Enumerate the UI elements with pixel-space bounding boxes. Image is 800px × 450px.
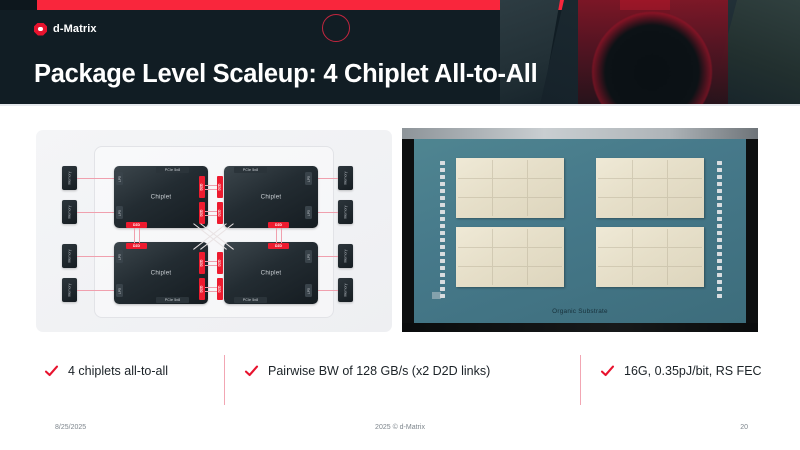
bullet-text: 16G, 0.35pJ/bit, RS FEC <box>624 364 762 379</box>
header-left-notch <box>0 0 37 10</box>
slide: d-Matrix Package Level Scaleup: 4 Chiple… <box>0 0 800 450</box>
bullet-item-1: 4 chiplets all-to-all <box>44 352 168 420</box>
d2d-wire <box>205 185 217 186</box>
memory-label: Memory <box>67 172 71 185</box>
d2d-link: D2D <box>126 243 147 249</box>
lp-label: LP5 <box>306 288 310 294</box>
pad-column-right <box>717 161 722 298</box>
page-title: Package Level Scaleup: 4 Chiplet All-to-… <box>34 60 537 89</box>
memory-link <box>77 290 115 291</box>
lp-label: LP5 <box>117 288 121 294</box>
octagon-dot-icon <box>34 23 47 36</box>
lp-interface: LP5 <box>305 284 312 297</box>
substrate-corner-mark <box>432 292 441 299</box>
brand-logo: d-Matrix <box>34 20 97 38</box>
d2d-link: D2D <box>268 243 289 249</box>
check-icon <box>44 364 59 379</box>
d2d-link: D2D <box>199 176 205 198</box>
memory-label: Memory <box>343 250 347 263</box>
d2d-wire <box>281 228 282 243</box>
pcie-interface: PCIe 5x8 <box>234 167 267 173</box>
logo-center-dot <box>38 27 43 32</box>
lp-interface: LP5 <box>116 172 123 185</box>
memory-label: Memory <box>67 206 71 219</box>
memory-link <box>318 290 338 291</box>
lp-interface: LP5 <box>305 250 312 263</box>
check-icon <box>600 364 615 379</box>
lp-label: LP5 <box>117 176 121 182</box>
footer-copyright: 2025 © d-Matrix <box>0 424 800 431</box>
memory-block: Memory <box>62 200 77 224</box>
bullet-row: 4 chiplets all-to-all Pairwise BW of 128… <box>0 352 800 408</box>
organic-substrate: Organic Substrate <box>414 139 746 323</box>
d2d-link: D2D <box>126 222 147 228</box>
slide-footer: 8/25/2025 2025 © d-Matrix 20 <box>0 424 800 444</box>
memory-link <box>318 178 338 179</box>
memory-label: Memory <box>343 284 347 297</box>
footer-page-number: 20 <box>740 424 748 431</box>
d2d-link: D2D <box>217 252 223 274</box>
d2d-wire <box>205 189 217 190</box>
memory-block: Memory <box>338 200 353 224</box>
chiplet-top-left: Chiplet <box>114 166 208 228</box>
check-icon <box>244 364 259 379</box>
memory-block: Memory <box>338 244 353 268</box>
memory-link <box>318 212 338 213</box>
d2d-link: D2D <box>217 202 223 224</box>
chiplet-bottom-left: Chiplet <box>114 242 208 304</box>
d2d-wire <box>205 287 217 288</box>
lp-label: LP5 <box>117 254 121 260</box>
bullet-text: Pairwise BW of 128 GB/s (x2 D2D links) <box>268 364 490 379</box>
lp-interface: LP5 <box>305 206 312 219</box>
pad-column-left <box>440 161 445 298</box>
d2d-link: D2D <box>199 278 205 300</box>
bullet-item-3: 16G, 0.35pJ/bit, RS FEC <box>600 352 762 420</box>
d2d-wire <box>134 228 135 243</box>
lp-interface: LP5 <box>116 206 123 219</box>
d2d-link: D2D <box>217 278 223 300</box>
d2d-wire <box>276 228 277 243</box>
lp-label: LP5 <box>306 210 310 216</box>
die-grid <box>458 160 562 216</box>
photo-bottom-bezel <box>402 323 758 332</box>
small-circle-outline-icon <box>322 14 350 42</box>
die-bottom-right <box>596 227 704 287</box>
chiplet-label: Chiplet <box>224 194 318 201</box>
lp-interface: LP5 <box>116 250 123 263</box>
lp-label: LP5 <box>306 176 310 182</box>
slide-header: d-Matrix Package Level Scaleup: 4 Chiple… <box>0 0 800 104</box>
d2d-link: D2D <box>199 202 205 224</box>
d2d-wire <box>139 228 140 243</box>
memory-label: Memory <box>343 172 347 185</box>
die-top-left <box>456 158 564 218</box>
memory-block: Memory <box>338 166 353 190</box>
chiplet-label: Chiplet <box>114 194 208 201</box>
memory-label: Memory <box>67 250 71 263</box>
d2d-link: D2D <box>199 252 205 274</box>
d2d-wire <box>205 215 217 216</box>
die-grid <box>598 229 702 285</box>
lp-interface: LP5 <box>116 284 123 297</box>
memory-link <box>77 256 115 257</box>
memory-link <box>318 256 338 257</box>
logo-text: d-Matrix <box>53 23 97 35</box>
memory-block: Memory <box>62 244 77 268</box>
lp-label: LP5 <box>306 254 310 260</box>
lp-label: LP5 <box>117 210 121 216</box>
die-grid <box>458 229 562 285</box>
d2d-link: D2D <box>217 176 223 198</box>
lp-interface: LP5 <box>305 172 312 185</box>
photo-top-bezel <box>402 128 758 139</box>
memory-link <box>77 212 115 213</box>
substrate-label: Organic Substrate <box>414 308 746 315</box>
pcie-interface: PCIe 5x8 <box>156 297 189 303</box>
memory-block: Memory <box>338 278 353 302</box>
chiplet-top-right: Chiplet <box>224 166 318 228</box>
chiplet-label: Chiplet <box>224 270 318 277</box>
memory-label: Memory <box>343 206 347 219</box>
pcie-interface: PCIe 5x8 <box>156 167 189 173</box>
memory-label: Memory <box>67 284 71 297</box>
memory-block: Memory <box>62 278 77 302</box>
die-bottom-left <box>456 227 564 287</box>
header-geometric-decoration <box>500 0 800 104</box>
bullet-text: 4 chiplets all-to-all <box>68 364 168 379</box>
d2d-wire <box>205 211 217 212</box>
die-top-right <box>596 158 704 218</box>
d2d-wire <box>205 261 217 262</box>
d2d-wire <box>205 265 217 266</box>
memory-block: Memory <box>62 166 77 190</box>
chiplet-label: Chiplet <box>114 270 208 277</box>
chiplet-bottom-right: Chiplet <box>224 242 318 304</box>
glowing-ring-graphic <box>578 0 728 104</box>
d2d-wire <box>205 291 217 292</box>
die-grid <box>598 160 702 216</box>
bullet-item-2: Pairwise BW of 128 GB/s (x2 D2D links) <box>244 352 490 420</box>
memory-link <box>77 178 115 179</box>
pcie-interface: PCIe 5x8 <box>234 297 267 303</box>
header-underline <box>0 104 800 106</box>
package-photo: Organic Substrate <box>402 128 758 332</box>
d2d-link: D2D <box>268 222 289 228</box>
